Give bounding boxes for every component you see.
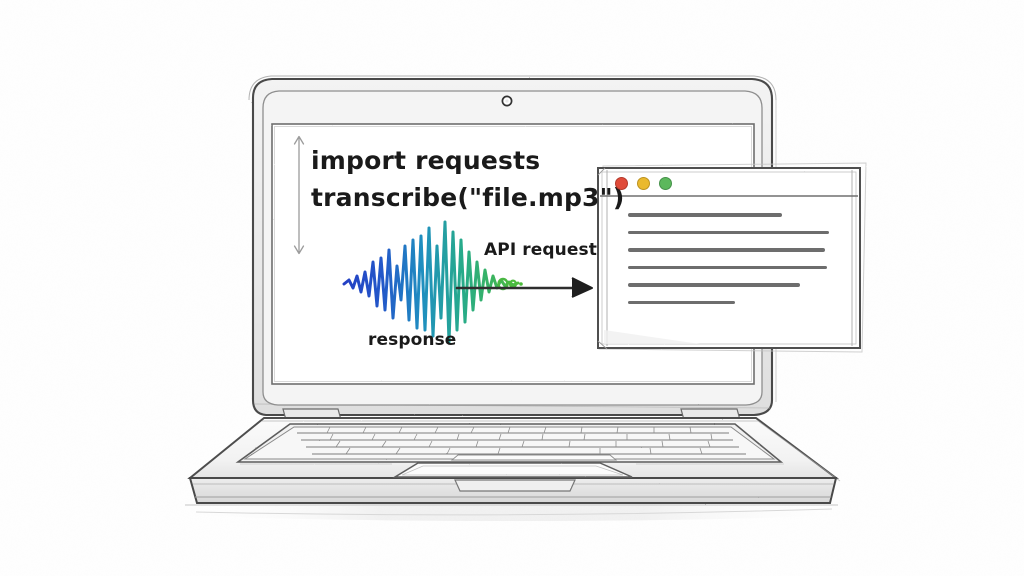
response-label: response: [368, 330, 456, 350]
text-line-5: [628, 283, 800, 287]
code-line-1: import requests: [311, 146, 540, 175]
code-line-2: transcribe("file.mp3"): [311, 183, 625, 212]
desk-shadow: [182, 503, 842, 521]
browser-content-lines: [628, 213, 833, 304]
text-line-4: [628, 266, 827, 270]
keyboard[interactable]: [238, 424, 781, 462]
diagram-canvas: import requests transcribe("file.mp3") A…: [0, 0, 1024, 576]
minimize-dot[interactable]: [637, 177, 650, 190]
maximize-dot[interactable]: [659, 177, 672, 190]
close-dot[interactable]: [615, 177, 628, 190]
text-line-2: [628, 231, 829, 235]
text-line-3: [628, 248, 825, 252]
text-line-1: [628, 213, 782, 217]
text-line-6: [628, 301, 735, 305]
front-latch: [455, 480, 575, 491]
laptop-base: [190, 418, 840, 503]
traffic-light-group: [615, 177, 672, 190]
trackpad[interactable]: [395, 463, 632, 477]
sketch-scene: [0, 0, 1024, 576]
webcam-icon: [502, 96, 511, 105]
api-request-label: API request: [484, 240, 597, 260]
browser-chrome-layer: [598, 168, 860, 348]
